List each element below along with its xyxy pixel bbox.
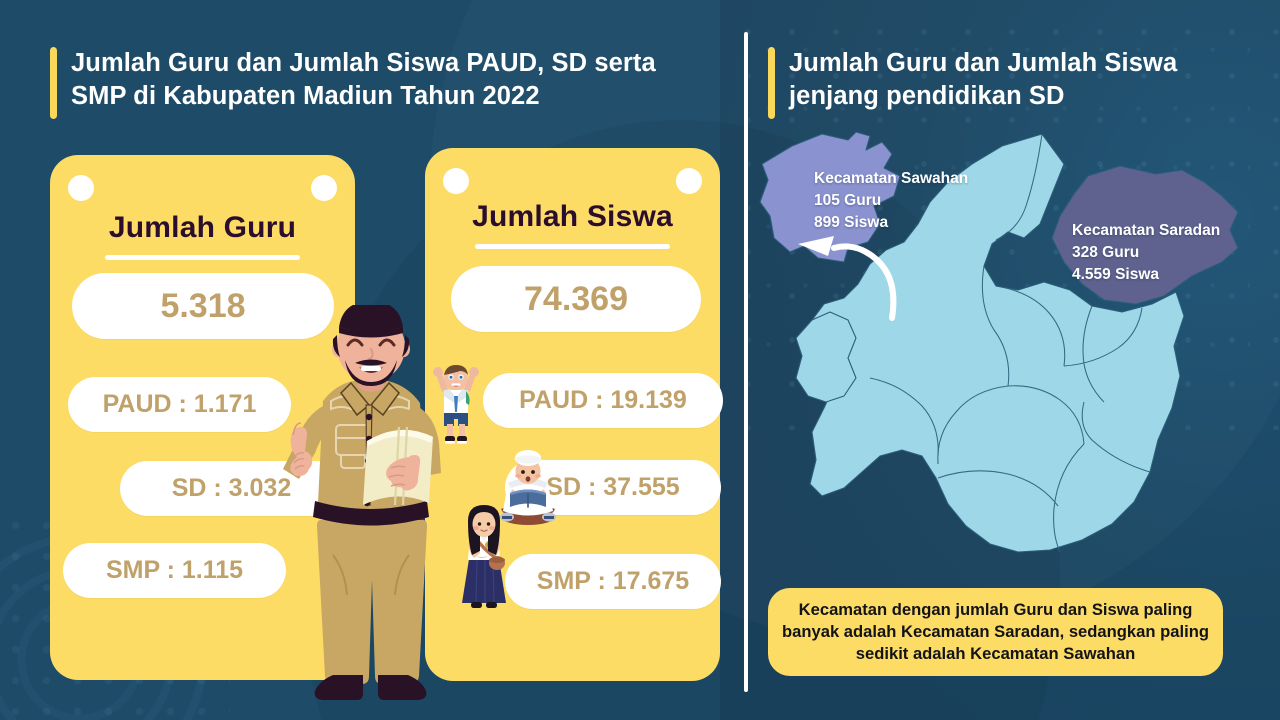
- card-heading: Jumlah Siswa: [425, 200, 720, 234]
- siswa-paud-pill: PAUD : 19.139: [483, 373, 723, 428]
- left-panel-title: Jumlah Guru dan Jumlah Siswa PAUD, SD se…: [50, 47, 710, 119]
- infographic-canvas: Jumlah Guru dan Jumlah Siswa PAUD, SD se…: [0, 0, 1280, 720]
- right-title-text: Jumlah Guru dan Jumlah Siswa jenjang pen…: [789, 47, 1238, 113]
- card-hole-left-icon: [443, 168, 469, 194]
- summary-note-box: Kecamatan dengan jumlah Guru dan Siswa p…: [768, 588, 1223, 676]
- card-hole-right-icon: [676, 168, 702, 194]
- left-title-text: Jumlah Guru dan Jumlah Siswa PAUD, SD se…: [71, 47, 710, 113]
- map-label-saradan-students: 4.559 Siswa: [1072, 264, 1220, 286]
- map-kabupaten-madiun: Kecamatan Sawahan 105 Guru 899 Siswa Kec…: [752, 120, 1264, 570]
- map-label-sawahan: Kecamatan Sawahan 105 Guru 899 Siswa: [814, 168, 968, 234]
- guru-paud-pill: PAUD : 1.171: [68, 377, 291, 432]
- siswa-smp-pill: SMP : 17.675: [505, 554, 721, 609]
- map-label-sawahan-teachers: 105 Guru: [814, 190, 968, 212]
- map-label-saradan: Kecamatan Saradan 328 Guru 4.559 Siswa: [1072, 220, 1220, 286]
- map-label-saradan-teachers: 328 Guru: [1072, 242, 1220, 264]
- map-region-west-lobe: [796, 312, 856, 402]
- siswa-total-pill: 74.369: [451, 266, 701, 332]
- card-hole-right-icon: [311, 175, 337, 201]
- card-hole-left-icon: [68, 175, 94, 201]
- map-label-sawahan-name: Kecamatan Sawahan: [814, 168, 968, 190]
- title-accent-bar: [768, 47, 775, 119]
- title-accent-bar: [50, 47, 57, 119]
- card-heading: Jumlah Guru: [50, 211, 355, 245]
- summary-note-text: Kecamatan dengan jumlah Guru dan Siswa p…: [782, 599, 1209, 666]
- panel-divider: [744, 32, 748, 692]
- right-panel-title: Jumlah Guru dan Jumlah Siswa jenjang pen…: [768, 47, 1238, 119]
- map-label-sawahan-students: 899 Siswa: [814, 212, 968, 234]
- card-underline: [475, 244, 670, 249]
- map-label-saradan-name: Kecamatan Saradan: [1072, 220, 1220, 242]
- guru-smp-pill: SMP : 1.115: [63, 543, 286, 598]
- teacher-illustration-icon: [263, 305, 478, 720]
- card-underline: [105, 255, 300, 260]
